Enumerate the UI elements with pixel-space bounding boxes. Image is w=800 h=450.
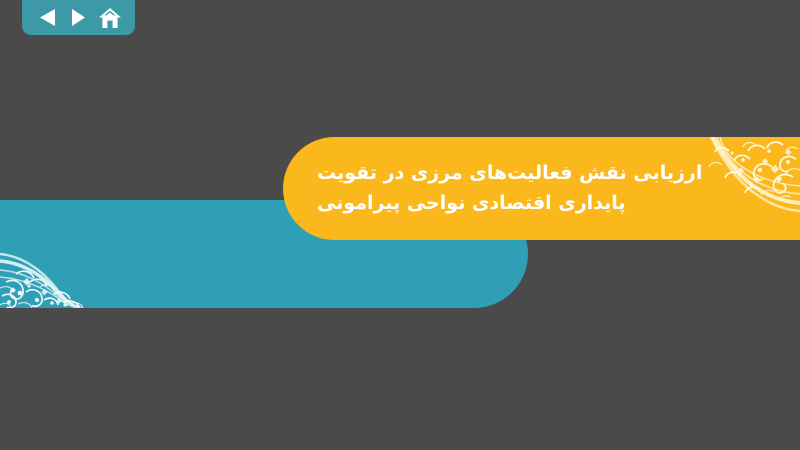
arabesque-ornament-banner xyxy=(655,137,800,240)
title-line-2: پایداری اقتصادی نواحی پیرامونی xyxy=(317,189,626,218)
title-line-1: ارزیابی نقش فعالیت‌های مرزی در تقویت xyxy=(317,159,702,188)
triangle-right-icon xyxy=(71,8,86,27)
triangle-left-icon xyxy=(39,8,56,27)
navigation-bar xyxy=(22,0,135,35)
home-icon xyxy=(98,7,122,29)
home-button[interactable] xyxy=(97,5,123,31)
page-title: ارزیابی نقش فعالیت‌های مرزی در تقویت پای… xyxy=(317,137,652,240)
arabesque-ornament-teal xyxy=(0,230,138,308)
slide-canvas: ارزیابی نقش فعالیت‌های مرزی در تقویت پای… xyxy=(0,0,800,450)
back-button[interactable] xyxy=(34,5,60,31)
forward-button[interactable] xyxy=(66,5,92,31)
title-banner: ارزیابی نقش فعالیت‌های مرزی در تقویت پای… xyxy=(283,137,800,240)
